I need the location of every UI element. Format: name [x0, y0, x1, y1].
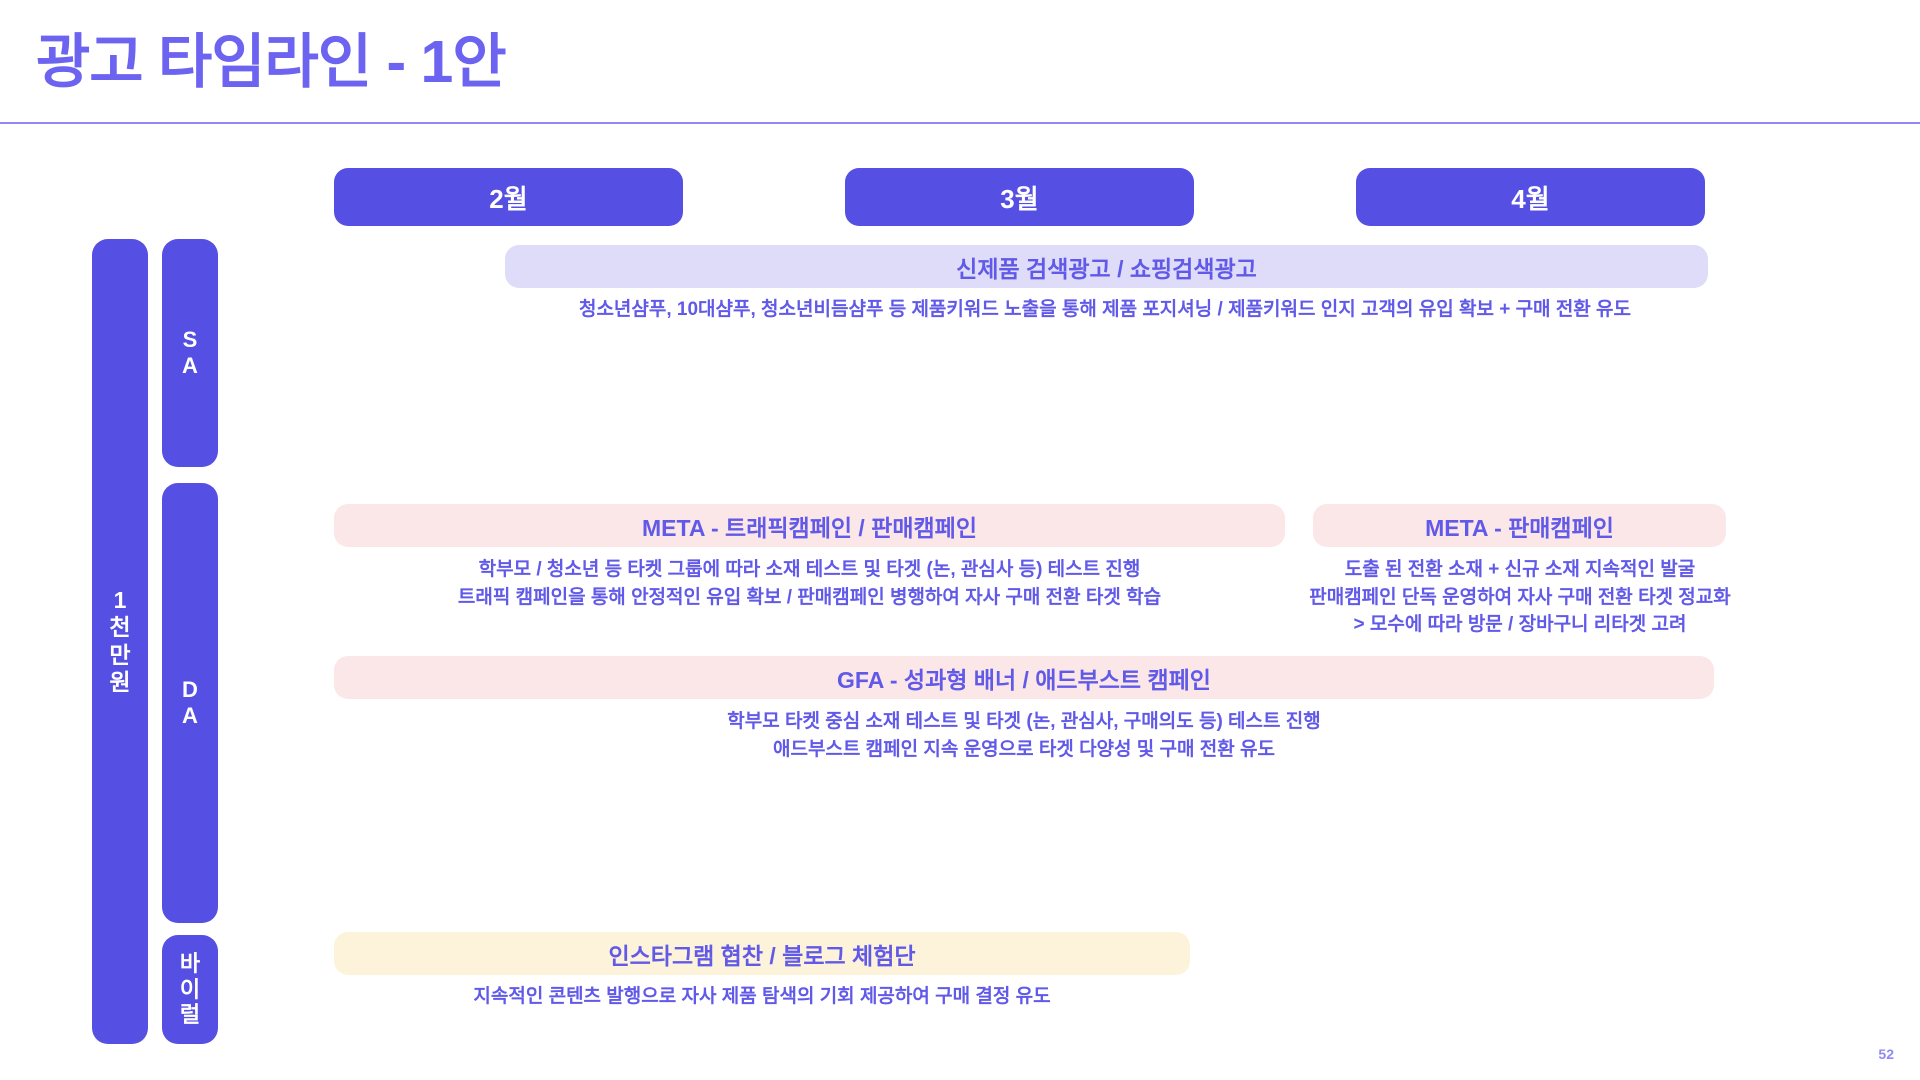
meta-left-desc-line-1: 학부모 / 청소년 등 타켓 그룹에 따라 소재 테스트 및 타겟 (논, 관심… — [334, 556, 1285, 584]
channel-viral-line-1: 바 — [180, 951, 200, 977]
gfa-desc-line-2: 애드부스트 캠페인 지속 운영으로 타겟 다양성 및 구매 전환 유도 — [334, 736, 1714, 764]
gfa-desc-line-1: 학부모 타켓 중심 소재 테스트 및 타겟 (논, 관심사, 구매의도 등) 테… — [334, 708, 1714, 736]
meta-traffic-sales-campaign-description: 학부모 / 청소년 등 타켓 그룹에 따라 소재 테스트 및 타겟 (논, 관심… — [334, 556, 1285, 611]
gfa-campaign-description: 학부모 타켓 중심 소재 테스트 및 타겟 (논, 관심사, 구매의도 등) 테… — [334, 708, 1714, 763]
slide-header: 광고 타임라인 - 1안 — [0, 0, 1920, 124]
channel-sa-line-1: S — [182, 327, 198, 353]
channel-da-line-1: D — [182, 677, 198, 703]
header-divider — [0, 122, 1920, 124]
meta-right-desc-line-1: 도출 된 전환 소재 + 신규 소재 지속적인 발굴 — [1290, 556, 1750, 584]
month-chip-march[interactable]: 3월 — [845, 168, 1194, 226]
budget-line-2: 천 — [109, 614, 130, 641]
sa-desc-line-1: 청소년샴푸, 10대샴푸, 청소년비듬샴푸 등 제품키워드 노출을 통해 제품 … — [440, 296, 1770, 324]
viral-campaign-description: 지속적인 콘텐츠 발행으로 자사 제품 탐색의 기회 제공하여 구매 결정 유도 — [334, 983, 1190, 1011]
channel-bar-viral: 바 이 럴 — [162, 935, 218, 1044]
month-chip-april[interactable]: 4월 — [1356, 168, 1705, 226]
channel-bar-sa: S A — [162, 239, 218, 467]
channel-viral-line-3: 럴 — [180, 1002, 200, 1028]
sa-campaign-title[interactable]: 신제품 검색광고 / 쇼핑검색광고 — [505, 245, 1708, 288]
viral-desc-line-1: 지속적인 콘텐츠 발행으로 자사 제품 탐색의 기회 제공하여 구매 결정 유도 — [334, 983, 1190, 1011]
meta-right-desc-line-3: > 모수에 따라 방문 / 장바구니 리타겟 고려 — [1290, 611, 1750, 639]
meta-traffic-sales-campaign-title[interactable]: META - 트래픽캠페인 / 판매캠페인 — [334, 504, 1285, 547]
month-chip-february[interactable]: 2월 — [334, 168, 683, 226]
sa-campaign-description: 청소년샴푸, 10대샴푸, 청소년비듬샴푸 등 제품키워드 노출을 통해 제품 … — [440, 296, 1770, 324]
channel-da-line-2: A — [182, 703, 198, 729]
viral-campaign-title[interactable]: 인스타그램 협찬 / 블로그 체험단 — [334, 932, 1190, 975]
meta-sales-campaign-description: 도출 된 전환 소재 + 신규 소재 지속적인 발굴 판매캠페인 단독 운영하여… — [1290, 556, 1750, 639]
budget-line-3: 만 — [109, 642, 130, 669]
meta-left-desc-line-2: 트래픽 캠페인을 통해 안정적인 유입 확보 / 판매캠페인 병행하여 자사 구… — [334, 584, 1285, 612]
budget-line-1: 1 — [109, 587, 130, 614]
meta-right-desc-line-2: 판매캠페인 단독 운영하여 자사 구매 전환 타겟 정교화 — [1290, 584, 1750, 612]
budget-line-4: 원 — [109, 669, 130, 696]
budget-bar: 1 천 만 원 — [92, 239, 148, 1044]
gfa-campaign-title[interactable]: GFA - 성과형 배너 / 애드부스트 캠페인 — [334, 656, 1714, 699]
page-number: 52 — [1878, 1046, 1894, 1062]
meta-sales-campaign-title[interactable]: META - 판매캠페인 — [1313, 504, 1726, 547]
timeline-month-header: 2월 3월 4월 — [0, 168, 1920, 226]
channel-bar-da: D A — [162, 483, 218, 923]
channel-sa-line-2: A — [182, 353, 198, 379]
channel-viral-line-2: 이 — [180, 977, 200, 1003]
page-title: 광고 타임라인 - 1안 — [36, 14, 506, 99]
